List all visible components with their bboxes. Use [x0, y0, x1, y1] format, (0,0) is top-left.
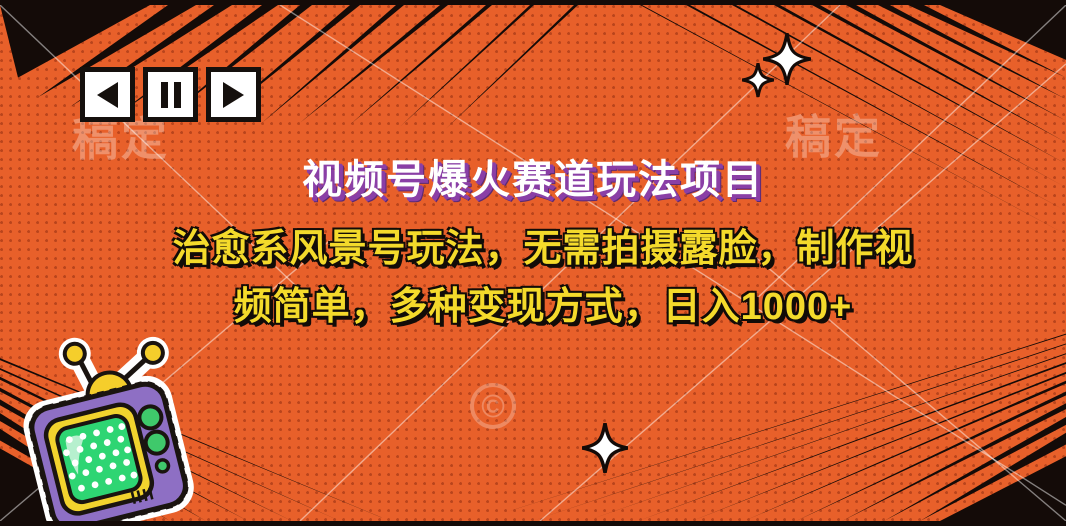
subtitle-line-1: 治愈系风景号玩法，无需拍摄露脸，制作视 [60, 220, 1026, 278]
page-title: 视频号爆火赛道玩法项目 [0, 147, 1066, 205]
previous-button[interactable] [80, 67, 135, 122]
subtitle-block: 治愈系风景号玩法，无需拍摄露脸，制作视 频简单，多种变现方式，日入1000+ [60, 220, 1026, 336]
sparkle-large-top-right-icon [763, 33, 811, 85]
copyright-watermark-icon: © [470, 383, 516, 429]
previous-icon [97, 82, 118, 108]
poster-canvas: 稿定 稿定 © 视频号爆火赛道玩法项目 治愈系风景号玩法，无需拍摄露脸，制作视 … [0, 0, 1066, 526]
play-button[interactable] [206, 67, 261, 122]
sparkle-small-top-right-icon [742, 63, 774, 97]
pause-button[interactable] [143, 67, 198, 122]
pause-icon [161, 82, 181, 108]
media-controls [80, 67, 261, 122]
sparkle-bottom-center-icon [582, 423, 628, 473]
subtitle-line-2: 频简单，多种变现方式，日入1000+ [60, 278, 1026, 336]
play-icon [223, 82, 244, 108]
retro-tv-sticker [14, 333, 214, 526]
